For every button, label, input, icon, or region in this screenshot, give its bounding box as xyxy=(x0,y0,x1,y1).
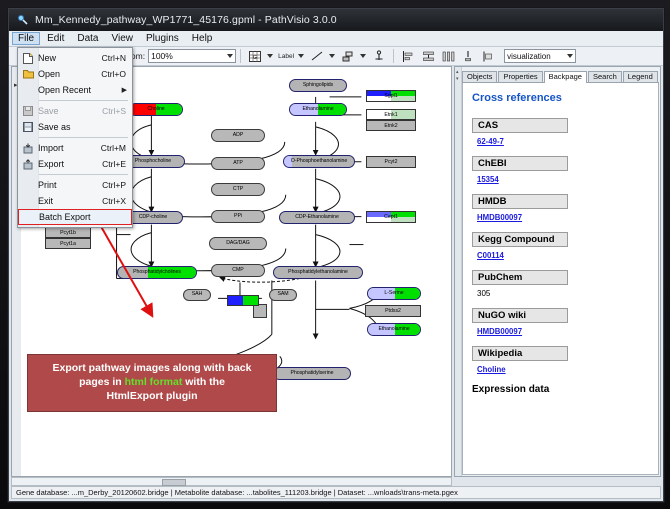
menu-item-shortcut: Ctrl+E xyxy=(102,159,132,169)
menu-item-label: Open Recent xyxy=(38,85,132,95)
gene-pcyt1a[interactable]: Pcyt1a xyxy=(45,238,91,249)
menu-item-open[interactable]: Open Ctrl+O xyxy=(18,66,132,82)
cross-references-heading: Cross references xyxy=(472,92,649,104)
callout-highlight: html format xyxy=(125,376,183,388)
menu-help[interactable]: Help xyxy=(186,32,219,45)
menu-item-label: Export xyxy=(38,159,102,169)
menu-item-batch-export[interactable]: Batch Export xyxy=(18,209,132,225)
node-ethanolamine[interactable]: Ethanolamine xyxy=(289,103,347,116)
menu-item-exit[interactable]: Exit Ctrl+X xyxy=(18,193,132,209)
db-value-hmdb[interactable]: HMDB00097 xyxy=(477,213,649,222)
node-atp[interactable]: ATP xyxy=(211,157,265,170)
status-bar: Gene database: ...m_Derby_20120602.bridg… xyxy=(11,486,661,499)
db-value-pubchem: 305 xyxy=(477,289,649,298)
group-icon[interactable] xyxy=(459,48,477,65)
db-label-hmdb: HMDB xyxy=(472,194,568,209)
tab-objects[interactable]: Objects xyxy=(462,71,497,83)
db-label-cas: CAS xyxy=(472,118,568,133)
menu-item-import[interactable]: Import Ctrl+M xyxy=(18,140,132,156)
save-disk-icon xyxy=(18,106,38,116)
anchor-icon[interactable] xyxy=(370,48,388,65)
menu-item-shortcut: Ctrl+S xyxy=(102,106,132,116)
import-icon xyxy=(18,143,38,154)
pathvisio-icon xyxy=(17,14,29,26)
callout-line2-post: with the xyxy=(182,376,225,388)
open-folder-icon xyxy=(18,69,38,79)
rail-up-icon[interactable]: ▴ xyxy=(456,69,459,75)
menu-item-label: Open xyxy=(38,69,101,79)
node-color-chip xyxy=(227,295,259,306)
shape-icon[interactable] xyxy=(339,48,357,65)
annotation-callout: Export pathway images along with back pa… xyxy=(27,354,277,412)
menu-item-new[interactable]: New Ctrl+N xyxy=(18,50,132,66)
tab-legend[interactable]: Legend xyxy=(623,71,658,83)
pathvisio-window: Mm_Kennedy_pathway_WP1771_45176.gpml - P… xyxy=(8,8,664,502)
tab-search[interactable]: Search xyxy=(588,71,622,83)
db-label-wikipedia: Wikipedia xyxy=(472,346,568,361)
node-sam[interactable]: SAM xyxy=(269,289,297,301)
node-ppi[interactable]: PPi xyxy=(211,210,265,223)
menu-item-save-as[interactable]: Save as xyxy=(18,119,132,135)
menu-item-label: Print xyxy=(38,180,102,190)
menu-item-label: Save xyxy=(38,106,102,116)
line-dropdown-icon[interactable] xyxy=(327,49,336,64)
menu-item-shortcut: Ctrl+P xyxy=(102,180,132,190)
db-value-nugo-wiki[interactable]: HMDB00097 xyxy=(477,327,649,336)
side-rail[interactable]: ▴ ▾ xyxy=(455,67,462,476)
expression-data-heading: Expression data xyxy=(472,384,649,395)
save-as-icon xyxy=(18,122,38,132)
zoom-value: 100% xyxy=(151,51,173,61)
file-menu-dropdown: New Ctrl+N Open Ctrl+O Open Recent ▶ Sav… xyxy=(17,47,133,228)
chevron-down-icon xyxy=(227,54,233,58)
new-file-icon xyxy=(18,53,38,64)
grid-dropdown-icon[interactable] xyxy=(265,49,274,64)
menu-file[interactable]: File xyxy=(12,32,40,45)
menu-item-shortcut: Ctrl+N xyxy=(102,53,132,63)
submenu-arrow-icon: ▶ xyxy=(122,86,127,94)
tab-properties[interactable]: Properties xyxy=(498,71,542,83)
callout-line3: HtmlExport plugin xyxy=(107,390,198,402)
node-adp[interactable]: ADP xyxy=(211,129,265,142)
line-icon[interactable] xyxy=(308,48,326,65)
db-value-kegg-compound[interactable]: C00114 xyxy=(477,251,649,260)
node-sphingolipids[interactable]: Sphingolipids xyxy=(289,79,347,92)
callout-line1: Export pathway images along with back xyxy=(53,362,252,374)
menu-item-export[interactable]: Export Ctrl+E xyxy=(18,156,132,172)
db-label-chebi: ChEBI xyxy=(472,156,568,171)
title-bar: Mm_Kennedy_pathway_WP1771_45176.gpml - P… xyxy=(9,9,663,32)
gene-sgpl1[interactable]: Sgpl1 xyxy=(366,90,416,102)
menu-item-label: New xyxy=(38,53,102,63)
node-phosphatidylcholines[interactable]: Phosphatidylcholines xyxy=(117,266,197,279)
callout-line2-pre: pages in xyxy=(79,376,125,388)
visualization-combobox[interactable]: visualization xyxy=(504,49,576,63)
gene-pcyt2[interactable]: Pcyt2 xyxy=(366,156,416,168)
db-value-chebi[interactable]: 15354 xyxy=(477,175,649,184)
label-dropdown-icon[interactable] xyxy=(296,49,305,64)
menu-edit[interactable]: Edit xyxy=(41,32,70,45)
gene-cept1[interactable]: Cept1 xyxy=(366,211,416,223)
rail-down-icon[interactable]: ▾ xyxy=(456,76,459,82)
tab-backpage[interactable]: Backpage xyxy=(544,71,587,84)
side-tabs: Objects Properties Backpage Search Legen… xyxy=(462,69,659,83)
scrollbar-thumb[interactable] xyxy=(162,479,186,486)
visualization-value: visualization xyxy=(507,52,551,61)
node-ctp[interactable]: CTP xyxy=(211,183,265,196)
side-panel: ▴ ▾ Objects Properties Backpage Search L… xyxy=(454,66,661,477)
node-phosphatidylethanolamine[interactable]: Phosphatidylethanolamine xyxy=(273,266,363,279)
menu-view[interactable]: View xyxy=(105,32,139,45)
menu-plugins[interactable]: Plugins xyxy=(140,32,185,45)
node-cdp-ethanolamine[interactable]: CDP-Ethanolamine xyxy=(279,211,355,224)
toolbar-separator xyxy=(240,49,241,63)
backpage-content: Cross references CAS 62-49-7 ChEBI 15354… xyxy=(462,83,659,475)
zoom-combobox[interactable]: 100% xyxy=(148,49,236,63)
label-icon[interactable]: Label xyxy=(277,48,295,65)
status-text: Gene database: ...m_Derby_20120602.bridg… xyxy=(16,488,458,497)
node-l-serine[interactable]: L-Serine xyxy=(367,287,421,300)
desktop-background: Mm_Kennedy_pathway_WP1771_45176.gpml - P… xyxy=(0,0,670,509)
menu-item-shortcut: Ctrl+O xyxy=(101,69,132,79)
db-label-pubchem: PubChem xyxy=(472,270,568,285)
chevron-down-icon xyxy=(567,54,573,58)
node-o-phosphoethanolamine[interactable]: O-Phosphoethanolamine xyxy=(283,155,355,168)
toolbar-separator-2 xyxy=(393,49,394,63)
node-phosphatidylserine[interactable]: Phosphatidylserine xyxy=(273,367,351,380)
grid-icon[interactable]: G xyxy=(246,48,264,65)
gene-etnk1[interactable]: Etnk1 xyxy=(366,109,416,120)
db-value-cas[interactable]: 62-49-7 xyxy=(477,137,649,146)
gene-etnk2[interactable]: Etnk2 xyxy=(366,120,416,131)
db-label-nugo-wiki: NuGO wiki xyxy=(472,308,568,323)
shape-dropdown-icon[interactable] xyxy=(358,49,367,64)
node-cmp[interactable]: CMP xyxy=(211,264,265,277)
menu-item-label: Save as xyxy=(38,122,126,132)
menu-item-label: Batch Export xyxy=(39,212,131,222)
gene-ptdss2[interactable]: Ptdss2 xyxy=(365,305,421,317)
node-choline[interactable]: Choline xyxy=(129,103,183,116)
node-ethanolamine-2[interactable]: Ethanolamine xyxy=(367,323,421,336)
menu-item-shortcut: Ctrl+X xyxy=(102,196,132,206)
node-anchor-box[interactable] xyxy=(253,304,267,318)
window-title: Mm_Kennedy_pathway_WP1771_45176.gpml - P… xyxy=(35,14,337,26)
distribute-icon[interactable] xyxy=(439,48,457,65)
node-dag[interactable]: DAG/DAG xyxy=(209,237,267,250)
menu-item-label: Import xyxy=(38,143,101,153)
menu-bar: File Edit Data View Plugins Help xyxy=(9,31,663,47)
align-stack-icon[interactable] xyxy=(419,48,437,65)
menu-data[interactable]: Data xyxy=(71,32,104,45)
menu-item-open-recent[interactable]: Open Recent ▶ xyxy=(18,82,132,98)
menu-item-label: Exit xyxy=(38,196,102,206)
menu-item-save: Save Ctrl+S xyxy=(18,103,132,119)
gene-pcyt1b[interactable]: Pcyt1b xyxy=(45,227,91,238)
db-value-wikipedia[interactable]: Choline xyxy=(477,365,649,374)
export-icon xyxy=(18,159,38,170)
db-label-kegg-compound: Kegg Compound xyxy=(472,232,568,247)
menu-item-print[interactable]: Print Ctrl+P xyxy=(18,177,132,193)
menu-item-shortcut: Ctrl+M xyxy=(101,143,132,153)
canvas-hscrollbar[interactable] xyxy=(11,477,452,486)
order-icon[interactable] xyxy=(479,48,497,65)
svg-text:G: G xyxy=(253,55,257,61)
align-left-icon[interactable] xyxy=(399,48,417,65)
node-sah[interactable]: SAH xyxy=(183,289,211,301)
